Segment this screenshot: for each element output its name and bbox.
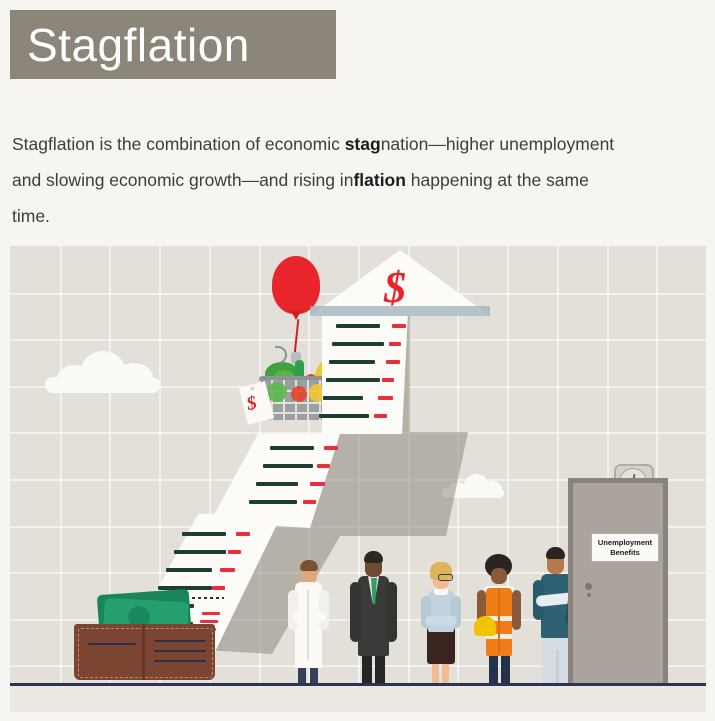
glasses-icon (438, 574, 453, 581)
wallet-fold (142, 624, 145, 680)
brown-wallet (72, 624, 217, 684)
door-panel[interactable]: Unemployment Benefits (573, 483, 663, 700)
page-title-banner: Stagflation (10, 10, 336, 79)
person-chef (282, 538, 334, 704)
collar (302, 582, 316, 589)
vest-zipper (498, 588, 500, 654)
folded-arms (292, 612, 326, 623)
svg-text:$: $ (383, 263, 406, 312)
sign-line-2: Benefits (610, 548, 640, 558)
arm (512, 590, 521, 630)
coat-seam (307, 590, 309, 660)
folded-arms (425, 616, 457, 626)
door-knob[interactable] (585, 583, 592, 590)
hair (364, 551, 383, 563)
wallet-stitching (78, 628, 213, 678)
unemployment-benefits-sign: Unemployment Benefits (591, 533, 659, 562)
unemployment-office-door[interactable]: Unemployment Benefits (568, 478, 668, 700)
intro-paragraph: Stagflation is the combination of econom… (12, 126, 622, 234)
arm (319, 590, 329, 630)
person-construction-worker (473, 542, 525, 704)
skirt (427, 628, 455, 664)
face (491, 568, 507, 584)
hard-hat-icon (474, 616, 496, 636)
person-businessman (346, 534, 400, 704)
floor (10, 686, 706, 712)
arm (350, 582, 361, 642)
collar (434, 588, 448, 595)
arm (288, 590, 298, 630)
arm (386, 582, 397, 642)
stagflation-illustration: $ $ (10, 246, 706, 712)
sign-line-1: Unemployment (598, 538, 652, 548)
hair (546, 547, 565, 559)
hair (300, 560, 318, 571)
page-title: Stagflation (10, 22, 250, 68)
person-office-worker (415, 546, 465, 704)
door-lock[interactable] (587, 593, 591, 597)
